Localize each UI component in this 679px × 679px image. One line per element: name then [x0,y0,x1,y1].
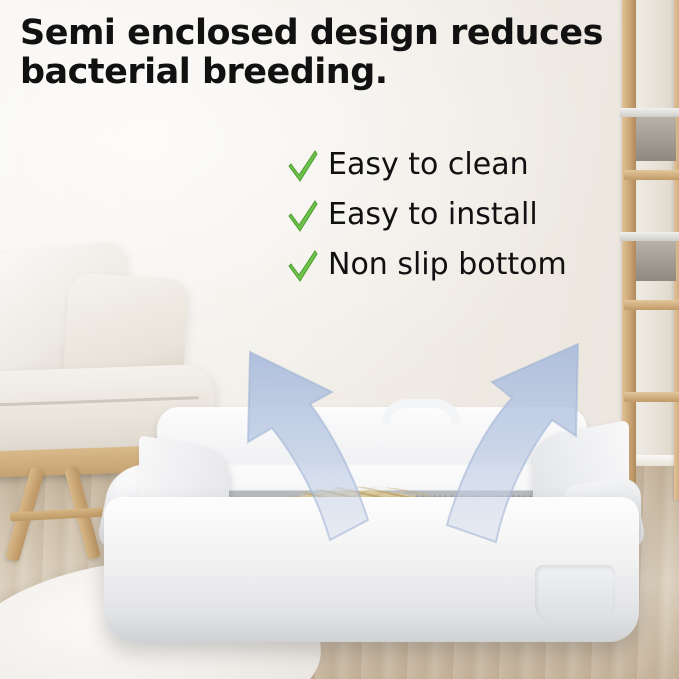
feature-label: Non slip bottom [328,249,567,281]
product-image: Semi enclosed design reduces bacterial b… [0,0,679,679]
semi-enclosed-litter-box [95,395,655,665]
headline-line-1: Semi enclosed design reduces [20,14,679,53]
green-check-icon [288,198,318,232]
front-tray-notch [535,565,615,621]
headline: Semi enclosed design reduces bacterial b… [20,14,679,92]
feature-list: Easy to clean Easy to install Non slip b… [288,148,648,298]
green-check-icon [288,148,318,182]
headline-line-2: bacterial breeding. [20,53,679,92]
feature-item: Easy to install [288,198,648,232]
shelf-board [620,108,679,117]
feature-label: Easy to install [328,199,538,231]
green-check-icon [288,248,318,282]
feature-label: Easy to clean [328,149,529,181]
ladder-rung [624,300,679,310]
carry-handle [381,399,461,425]
feature-item: Easy to clean [288,148,648,182]
feature-item: Non slip bottom [288,248,648,282]
